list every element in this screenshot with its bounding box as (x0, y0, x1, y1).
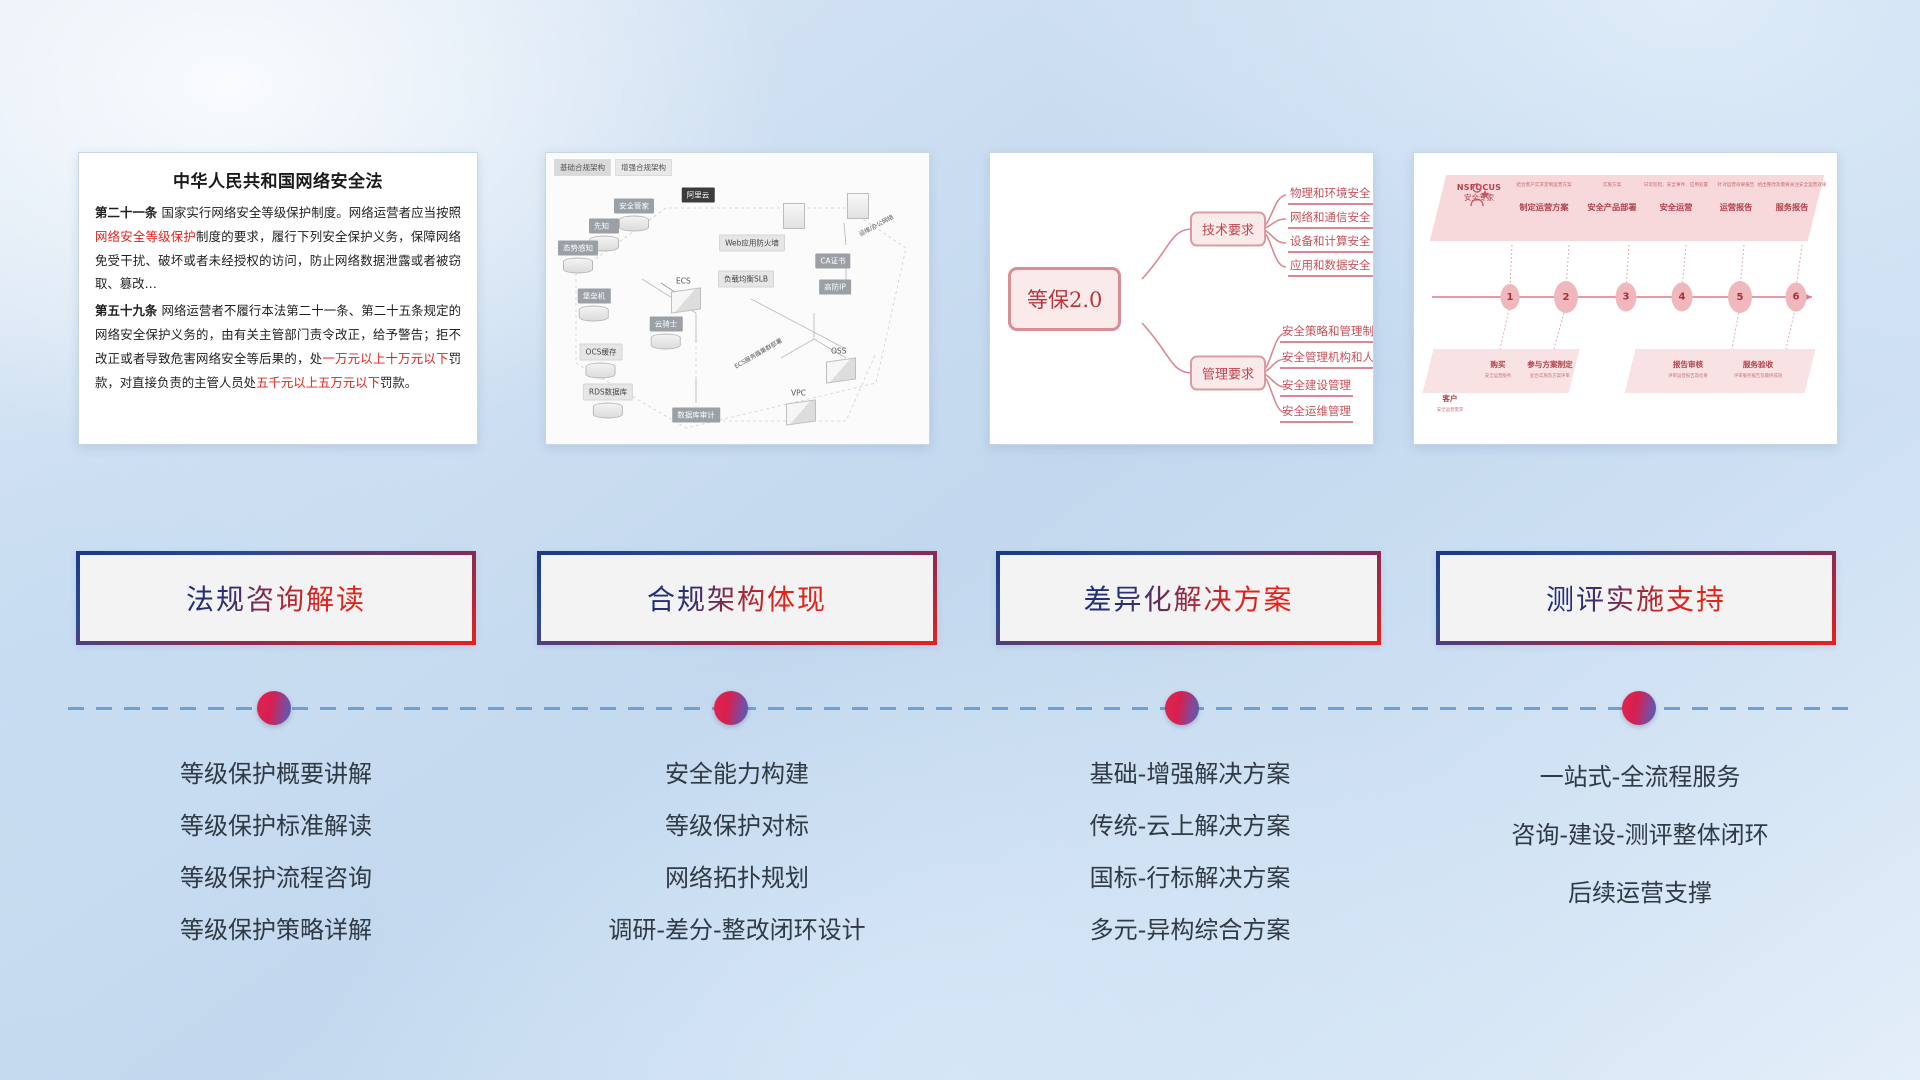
list-item: 基础-增强解决方案 (990, 748, 1390, 800)
article-21-text-a: 国家实行网络安全等级保护制度。网络运营者应当按照 (157, 205, 461, 220)
timeline-step-2[interactable]: 2 (1554, 281, 1578, 313)
slide-canvas: 中华人民共和国网络安全法 第二十一条 国家实行网络安全等级保护制度。网络运营者应… (0, 0, 1920, 1080)
mindmap-leaf-device-compute[interactable]: 设备和计算安全 (1288, 233, 1373, 253)
list-item: 网络拓扑规划 (537, 852, 937, 904)
timeline-dot-3[interactable] (1165, 691, 1199, 725)
node-bastion-host: 堡垒机 (578, 289, 611, 322)
law-article-21: 第二十一条 国家实行网络安全等级保护制度。网络运营者应当按照网络安全等级保护制度… (95, 201, 461, 296)
node-rds-database: RDS数据库 (583, 384, 633, 419)
mindmap-canvas: 等保2.0 技术要求 管理要求 物理和环境安全 网络和通信安全 设备和计算安全 … (990, 153, 1373, 444)
cube-shape (671, 287, 701, 313)
node-anti-ddos-ip: 高防IP (819, 280, 851, 295)
article-21-highlight: 网络安全等级保护 (95, 229, 196, 244)
server-shape (783, 203, 805, 229)
mindmap-root-node[interactable]: 等保2.0 (1008, 267, 1121, 331)
list-item: 咨询-建设-测评整体闭环 (1440, 806, 1840, 864)
pill-label: 测评实施支持 (1546, 578, 1726, 618)
article-59-text-c: 罚款。 (380, 375, 417, 390)
timeline-right-item-2: 服务验收 评审服务报告及最终成效 (1734, 359, 1782, 379)
timeline-dashed-axis (68, 707, 1852, 710)
detail-list-architecture: 安全能力构建 等级保护对标 网络拓扑规划 调研-差分-整改闭环设计 (537, 748, 937, 956)
timeline-dot-4[interactable] (1622, 691, 1656, 725)
timeline-step-4[interactable]: 4 (1672, 283, 1693, 312)
node-oss: OSS (826, 345, 856, 382)
timeline-left-item-2: 参与方案制定 配合实施及方案评审 (1527, 359, 1573, 379)
timeline-left-item-1: 购买 安全运营服务 (1485, 359, 1511, 379)
mindmap-leaf-app-data[interactable]: 应用和数据安全 (1288, 257, 1373, 277)
node-slb: 负载均衡SLB (718, 271, 774, 288)
pill-compliance-architecture[interactable]: 合规架构体现 (537, 551, 937, 645)
cylinder-shape (593, 403, 623, 419)
card-row: 中华人民共和国网络安全法 第二十一条 国家实行网络安全等级保护制度。网络运营者应… (0, 152, 1920, 445)
list-item: 等级保护标准解读 (76, 800, 476, 852)
node-waf: Web应用防火墙 (719, 235, 785, 252)
detail-list-solution: 基础-增强解决方案 传统-云上解决方案 国标-行标解决方案 多元-异构综合方案 (990, 748, 1390, 956)
cylinder-shape (619, 216, 649, 232)
mindmap-leaf-build-mgmt[interactable]: 安全建设管理 (1280, 377, 1353, 397)
law-article-59: 第五十九条 网络运营者不履行本法第二十一条、第二十五条规定的网络安全保护义务的，… (95, 299, 461, 394)
pill-label: 合规架构体现 (647, 578, 827, 618)
node-ocs-cache: OCS缓存 (580, 344, 623, 379)
card-architecture-diagram[interactable]: 基础合规架构 增强合规架构 (545, 152, 930, 445)
customer-label-block: 客户 安全运营需求 (1437, 393, 1463, 413)
pill-label: 差异化解决方案 (1083, 578, 1293, 618)
node-mobile-terminal (783, 201, 805, 229)
list-item: 调研-差分-整改闭环设计 (537, 904, 937, 956)
list-item: 国标-行标解决方案 (990, 852, 1390, 904)
cylinder-shape (563, 258, 593, 274)
cylinder-shape (579, 306, 609, 322)
mindmap-leaf-policy-system[interactable]: 安全策略和管理制度 (1280, 323, 1374, 343)
timeline-step-6[interactable]: 6 (1786, 283, 1807, 312)
mindmap-leaf-org-personnel[interactable]: 安全管理机构和人员 (1280, 349, 1374, 369)
mindmap-branch-management[interactable]: 管理要求 (1190, 356, 1266, 391)
cube-shape (826, 357, 856, 383)
timeline-tray-right (1625, 349, 1816, 393)
list-item: 等级保护概要讲解 (76, 748, 476, 800)
pill-differentiated-solution[interactable]: 差异化解决方案 (996, 551, 1381, 645)
list-item: 等级保护流程咨询 (76, 852, 476, 904)
detail-list-regulation: 等级保护概要讲解 等级保护标准解读 等级保护流程咨询 等级保护策略详解 (76, 748, 476, 956)
article-21-label: 第二十一条 (95, 205, 157, 220)
timeline-right-item-1: 报告审核 评审运营报告及结果 (1668, 359, 1708, 379)
timeline-canvas: NSFOCUS 安全专家 结合客户实求定制运营方案 制定运营方案 实施方案 安全… (1414, 153, 1837, 444)
timeline-dot-1[interactable] (257, 691, 291, 725)
node-pc-terminal (847, 191, 869, 219)
list-item: 安全能力构建 (537, 748, 937, 800)
law-title: 中华人民共和国网络安全法 (95, 167, 461, 192)
list-item: 传统-云上解决方案 (990, 800, 1390, 852)
cube-shape (786, 399, 816, 425)
node-vpc: VPC (786, 387, 816, 424)
law-body: 中华人民共和国网络安全法 第二十一条 国家实行网络安全等级保护制度。网络运营者应… (79, 153, 477, 405)
card-service-timeline[interactable]: NSFOCUS 安全专家 结合客户实求定制运营方案 制定运营方案 实施方案 安全… (1413, 152, 1838, 445)
node-situational-awareness: 态势感知 (558, 241, 598, 274)
pill-regulation-consulting[interactable]: 法规咨询解读 (76, 551, 476, 645)
list-item: 多元-异构综合方案 (990, 904, 1390, 956)
cylinder-shape (651, 334, 681, 350)
pill-evaluation-support[interactable]: 测评实施支持 (1436, 551, 1836, 645)
list-item: 后续运营支撑 (1440, 864, 1840, 922)
card-mindmap[interactable]: 等保2.0 技术要求 管理要求 物理和环境安全 网络和通信安全 设备和计算安全 … (989, 152, 1374, 445)
mindmap-leaf-ops-mgmt[interactable]: 安全运维管理 (1280, 403, 1353, 423)
node-yunqishi: 云骑士 (650, 317, 683, 350)
timeline-dot-2[interactable] (714, 691, 748, 725)
node-security-housekeeper: 安全管家 (614, 199, 654, 232)
mindmap-leaf-physical-env[interactable]: 物理和环境安全 (1288, 185, 1373, 205)
cylinder-shape (586, 363, 616, 379)
article-59-highlight-1: 一万元以上十万元以下 (322, 351, 448, 366)
mindmap-branch-technical[interactable]: 技术要求 (1190, 212, 1266, 247)
list-item: 等级保护策略详解 (76, 904, 476, 956)
node-database-audit: 数据库审计 (672, 408, 720, 423)
server-shape (847, 193, 869, 219)
timeline-step-1[interactable]: 1 (1501, 284, 1520, 310)
timeline-step-3[interactable]: 3 (1616, 283, 1637, 312)
mindmap-leaf-network-comm[interactable]: 网络和通信安全 (1288, 209, 1373, 229)
list-item: 一站式-全流程服务 (1440, 748, 1840, 806)
article-59-label: 第五十九条 (95, 303, 157, 318)
detail-list-evaluation: 一站式-全流程服务 咨询-建设-测评整体闭环 后续运营支撑 (1440, 748, 1840, 922)
card-law-text[interactable]: 中华人民共和国网络安全法 第二十一条 国家实行网络安全等级保护制度。网络运营者应… (78, 152, 478, 445)
pill-label: 法规咨询解读 (186, 578, 366, 618)
node-ca-certificate: CA证书 (815, 254, 850, 269)
node-aliyun: 阿里云 (682, 188, 715, 203)
pill-row: 法规咨询解读 合规架构体现 差异化解决方案 测评实施支持 (0, 551, 1920, 645)
article-59-highlight-2: 五千元以上五万元以下 (256, 375, 380, 390)
timeline-step-5[interactable]: 5 (1728, 281, 1752, 313)
list-item: 等级保护对标 (537, 800, 937, 852)
node-ecs: ECS (671, 275, 701, 312)
architecture-canvas: 基础合规架构 增强合规架构 (546, 153, 929, 444)
